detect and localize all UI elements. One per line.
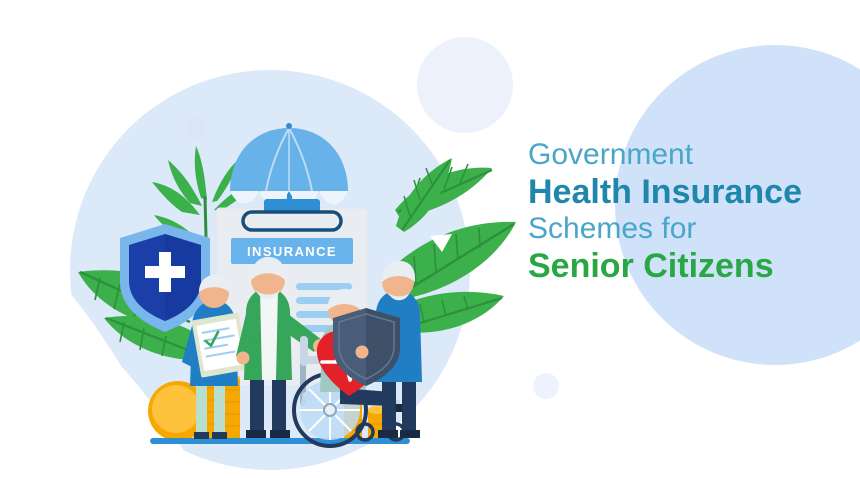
- p2-leg-right: [272, 372, 286, 436]
- p1-leg-left: [196, 378, 207, 436]
- wheelchair-hub: [324, 404, 336, 416]
- headline-line-schemes-for: Schemes for: [528, 212, 850, 246]
- p2-leg-left: [250, 372, 264, 436]
- headline-block: Government Health Insurance Schemes for …: [528, 138, 850, 285]
- headline-line-health-insurance: Health Insurance: [528, 173, 850, 211]
- p2-hand-left: [237, 352, 250, 365]
- p2-shirt: [260, 290, 278, 380]
- headline-line-senior-citizens: Senior Citizens: [528, 247, 850, 285]
- p4-hand-left: [356, 346, 369, 359]
- p1-leg-right: [214, 378, 225, 436]
- banner-root: INSURANCE: [0, 0, 860, 478]
- headline-line-government: Government: [528, 138, 850, 172]
